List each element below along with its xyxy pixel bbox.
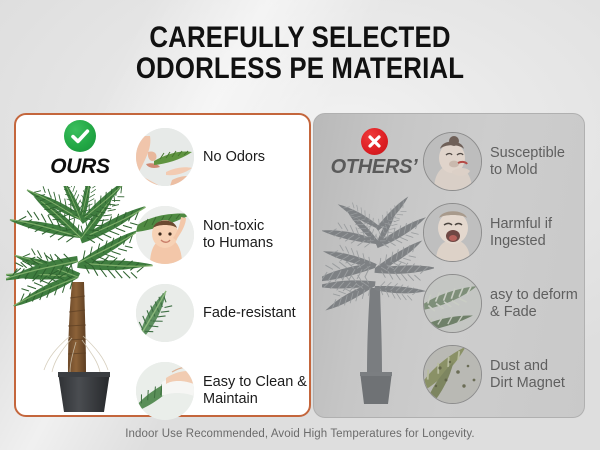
dusty-dirty-leaf-photo-icon [423, 345, 482, 404]
check-circle-icon [64, 120, 96, 152]
feature-label: asy to deform & Fade [490, 287, 585, 321]
faded-damaged-frond-photo-icon [423, 274, 482, 333]
ours-brand-block: OURS [28, 120, 132, 179]
list-item: Harmful if Ingested [423, 201, 585, 264]
others-feature-list: Susceptible to Mold Harmful if Ingested [423, 130, 585, 414]
feature-label: No Odors [203, 149, 265, 166]
list-item: Fade-resistant [136, 280, 311, 346]
title-line-2: ODORLESS PE MATERIAL [42, 53, 558, 84]
list-item: Non-toxic to Humans [136, 202, 311, 268]
ours-brand-label: OURS [28, 155, 132, 179]
list-item: Easy to Clean & Maintain [136, 358, 311, 424]
list-item: No Odors [136, 124, 311, 190]
footer-caption: Indoor Use Recommended, Avoid High Tempe… [0, 428, 600, 440]
comparison-infographic: CAREFULLY SELECTED ODORLESS PE MATERIAL … [0, 0, 600, 450]
others-brand-label: OTHERS’ [322, 156, 426, 179]
woman-pinching-nose-photo-icon [423, 132, 482, 191]
hand-wiping-leaf-with-cloth-photo-icon [136, 362, 194, 420]
list-item: Susceptible to Mold [423, 130, 585, 193]
ours-feature-list: No Odors [136, 124, 311, 436]
feature-label: Susceptible to Mold [490, 145, 585, 179]
feature-label: Easy to Clean & Maintain [203, 374, 307, 408]
feature-label: Non-toxic to Humans [203, 218, 273, 252]
crying-baby-photo-icon [423, 203, 482, 262]
list-item: asy to deform & Fade [423, 272, 585, 335]
gray-silhouette-palm-tree-in-pot-icon [322, 196, 434, 408]
fresh-green-palm-frond-photo-icon [136, 284, 194, 342]
page-title: CAREFULLY SELECTED ODORLESS PE MATERIAL [42, 22, 558, 84]
feature-label: Fade-resistant [203, 305, 296, 322]
baby-reaching-for-leaf-photo-icon [136, 206, 194, 264]
feature-label: Dust and Dirt Magnet [490, 358, 585, 392]
x-circle-icon [361, 128, 388, 155]
list-item: Dust and Dirt Magnet [423, 343, 585, 406]
woman-smelling-leaf-photo-icon [136, 128, 194, 186]
others-brand-block: OTHERS’ [322, 128, 426, 179]
title-line-1: CAREFULLY SELECTED [149, 21, 450, 54]
feature-label: Harmful if Ingested [490, 216, 585, 250]
green-palm-tree-in-pot-icon [6, 186, 156, 414]
